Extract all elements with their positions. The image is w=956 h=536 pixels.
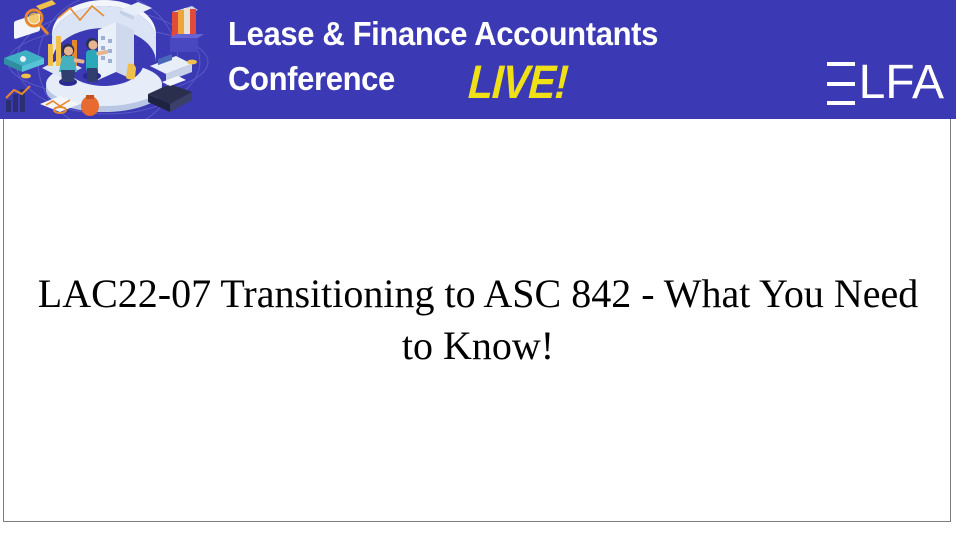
banner-title-line1: Lease & Finance Accountants (228, 11, 792, 56)
live-badge: LIVE! (467, 58, 569, 105)
presentation-slide: Lease & Finance Accountants Conference L… (0, 0, 956, 536)
elfa-e-bar-top (827, 62, 855, 66)
elfa-logo-text: LFA (859, 61, 944, 105)
slide-title-line1: LAC22-07 Transitioning to ASC 842 - What… (38, 271, 824, 316)
slide-title: LAC22-07 Transitioning to ASC 842 - What… (28, 268, 928, 372)
elfa-e-bar-middle (827, 82, 855, 86)
elfa-e-bar-bottom (827, 101, 855, 105)
elfa-e-mark-icon (827, 62, 855, 105)
elfa-logo: LFA (827, 61, 944, 105)
conference-banner: Lease & Finance Accountants Conference L… (0, 0, 956, 119)
isometric-business-conference-illustration (0, 0, 222, 119)
